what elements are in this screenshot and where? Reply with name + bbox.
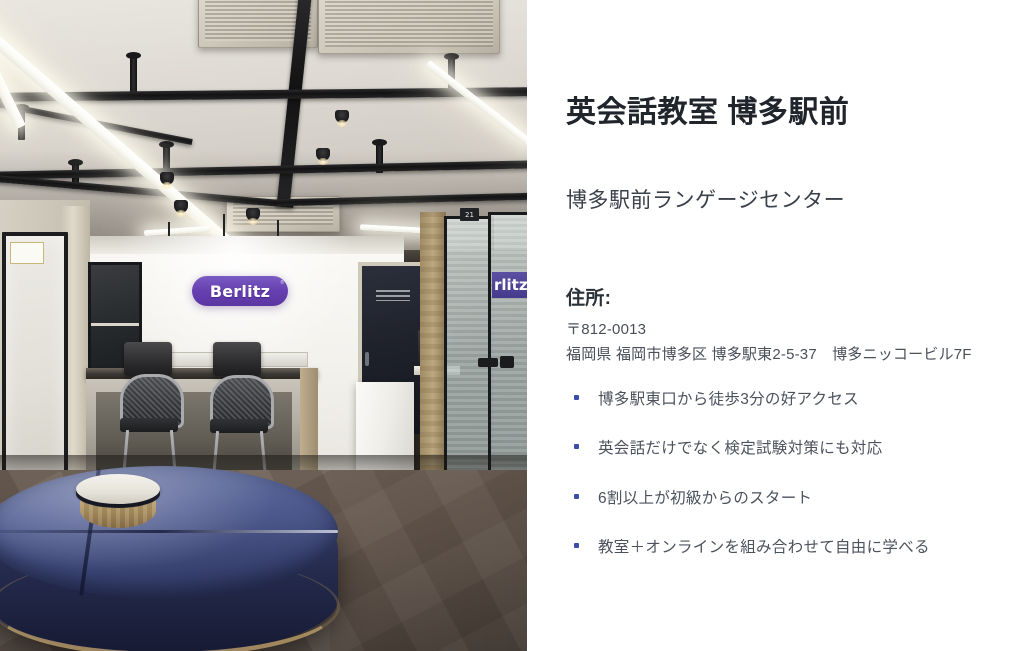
room-number-plate: 21 (460, 208, 479, 221)
bullet-icon (574, 494, 579, 499)
door-notice-sign (10, 242, 44, 264)
classroom-photo: Berlitz ® (0, 0, 527, 651)
list-item-label: 博多駅東口から徒歩3分の好アクセス (598, 391, 859, 408)
page-root: Berlitz ® (0, 0, 1024, 651)
list-item: 教室＋オンラインを組み合わせて自由に学べる (566, 536, 930, 559)
berlitz-logo: Berlitz ® (192, 276, 288, 306)
address-street-line: 福岡県 福岡市博多区 博多駅東2-5-37 博多ニッコービル7F (566, 343, 972, 364)
list-item: 英会話だけでなく検定試験対策にも対応 (566, 437, 930, 460)
ottoman-seam (0, 530, 338, 533)
ceiling-drop-rod (130, 56, 137, 92)
trademark-icon: ® (280, 280, 284, 286)
glass-door-handle (478, 358, 498, 367)
air-conditioner-unit (318, 0, 500, 54)
berlitz-logo-text: Berlitz (210, 282, 270, 301)
glass-door-handle (500, 356, 514, 368)
chair-backrest (124, 342, 172, 376)
bullet-icon (574, 444, 579, 449)
page-title: 英会話教室 博多駅前 (566, 93, 849, 134)
address-postal-code: 〒812-0013 (566, 318, 646, 339)
chair-backrest (213, 342, 261, 376)
features-list: 博多駅東口から徒歩3分の好アクセス 英会話だけでなく検定試験対策にも対応 6割以… (566, 388, 930, 585)
bullet-icon (574, 543, 579, 548)
door-handle (365, 352, 369, 366)
list-item: 博多駅東口から徒歩3分の好アクセス (566, 388, 930, 411)
bullet-icon (574, 395, 579, 400)
address-label: 住所: (566, 283, 611, 310)
info-panel: 英会話教室 博多駅前 博多駅前ランゲージセンター 住所: 〒812-0013 福… (527, 0, 1024, 651)
partition-berlitz-sign: rlitz (492, 272, 527, 298)
carpet-highlight (330, 470, 527, 651)
door-signage (376, 290, 410, 301)
room-number-text: 21 (465, 211, 474, 219)
counter-desktop (86, 368, 318, 379)
list-item-label: 英会話だけでなく検定試験対策にも対応 (598, 440, 882, 457)
list-item-label: 6割以上が初級からのスタート (598, 490, 812, 507)
list-item: 6割以上が初級からのスタート (566, 487, 930, 510)
ac-grille (325, 0, 493, 47)
center-name-subtitle: 博多駅前ランゲージセンター (566, 186, 845, 215)
partition-sign-text: rlitz (492, 276, 527, 294)
side-table-top (76, 474, 160, 504)
list-item-label: 教室＋オンラインを組み合わせて自由に学べる (598, 539, 930, 556)
